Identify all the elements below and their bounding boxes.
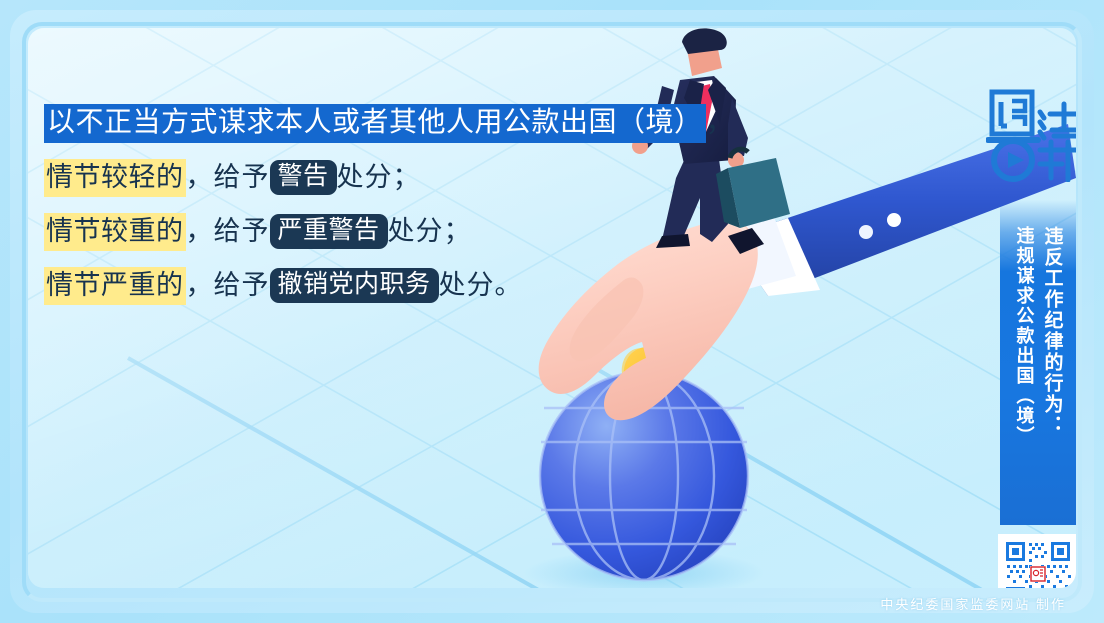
condition-highlight-1: 情节较轻的 xyxy=(44,159,186,197)
condition-highlight-3: 情节严重的 xyxy=(44,267,186,305)
penalty-pill-3: 撤销党内职务 xyxy=(270,268,439,303)
vertical-title-banner: 违反工作纪律的行为： 违规谋求公款出国（境） xyxy=(1000,200,1076,525)
play-button-icon xyxy=(1008,152,1024,168)
logo-char-ji xyxy=(992,92,1032,134)
sidebar-column: 违反工作纪律的行为： 违规谋求公款出国（境） xyxy=(972,58,1076,588)
gold-coin xyxy=(617,342,678,406)
content-panel: 以不正当方式谋求本人或者其他人用公款出国（境）， 情节较轻的，给予警告处分； 情… xyxy=(28,28,1076,588)
infographic-canvas: 以不正当方式谋求本人或者其他人用公款出国（境）， 情节较轻的，给予警告处分； 情… xyxy=(0,0,1104,623)
suffix-2: 处分； xyxy=(388,215,472,248)
banner-text-major: 违反工作纪律的行为： xyxy=(1039,226,1065,436)
qr-center-logo xyxy=(1030,566,1046,582)
penalty-pill-1: 警告 xyxy=(270,160,337,195)
suffix-1: 处分； xyxy=(337,161,421,194)
rule-text-block: 以不正当方式谋求本人或者其他人用公款出国（境）， 情节较轻的，给予警告处分； 情… xyxy=(44,104,684,305)
headline-comma: ， xyxy=(706,106,734,140)
connector-2: ，给予 xyxy=(186,215,270,248)
penalty-line-3: 情节严重的，给予撤销党内职务处分。 xyxy=(44,267,684,305)
qr-code[interactable] xyxy=(998,534,1076,588)
connector-3: ，给予 xyxy=(186,269,270,302)
condition-highlight-2: 情节较重的 xyxy=(44,213,186,251)
penalty-line-1: 情节较轻的，给予警告处分； xyxy=(44,159,684,197)
brand-logo[interactable] xyxy=(986,84,1076,182)
logo-char-fa xyxy=(1040,104,1076,138)
headline-line: 以不正当方式谋求本人或者其他人用公款出国（境）， xyxy=(44,104,684,143)
globe-piggy-bank xyxy=(540,370,748,580)
penalty-pill-2: 严重警告 xyxy=(270,214,388,249)
footer-credit: 中央纪委国家监委网站 制作 xyxy=(880,594,1066,613)
briefcase-icon xyxy=(716,149,790,228)
logo-char-bai xyxy=(988,140,1038,179)
logo-char-ke xyxy=(1040,142,1076,180)
penalty-line-2: 情节较重的，给予严重警告处分； xyxy=(44,213,684,251)
suffix-3: 处分。 xyxy=(439,269,523,302)
qr-code-icon xyxy=(1003,539,1073,588)
banner-text-minor: 违规谋求公款出国（境） xyxy=(1012,226,1037,446)
headline-highlight: 以不正当方式谋求本人或者其他人用公款出国（境） xyxy=(44,104,706,143)
connector-1: ，给予 xyxy=(186,161,270,194)
